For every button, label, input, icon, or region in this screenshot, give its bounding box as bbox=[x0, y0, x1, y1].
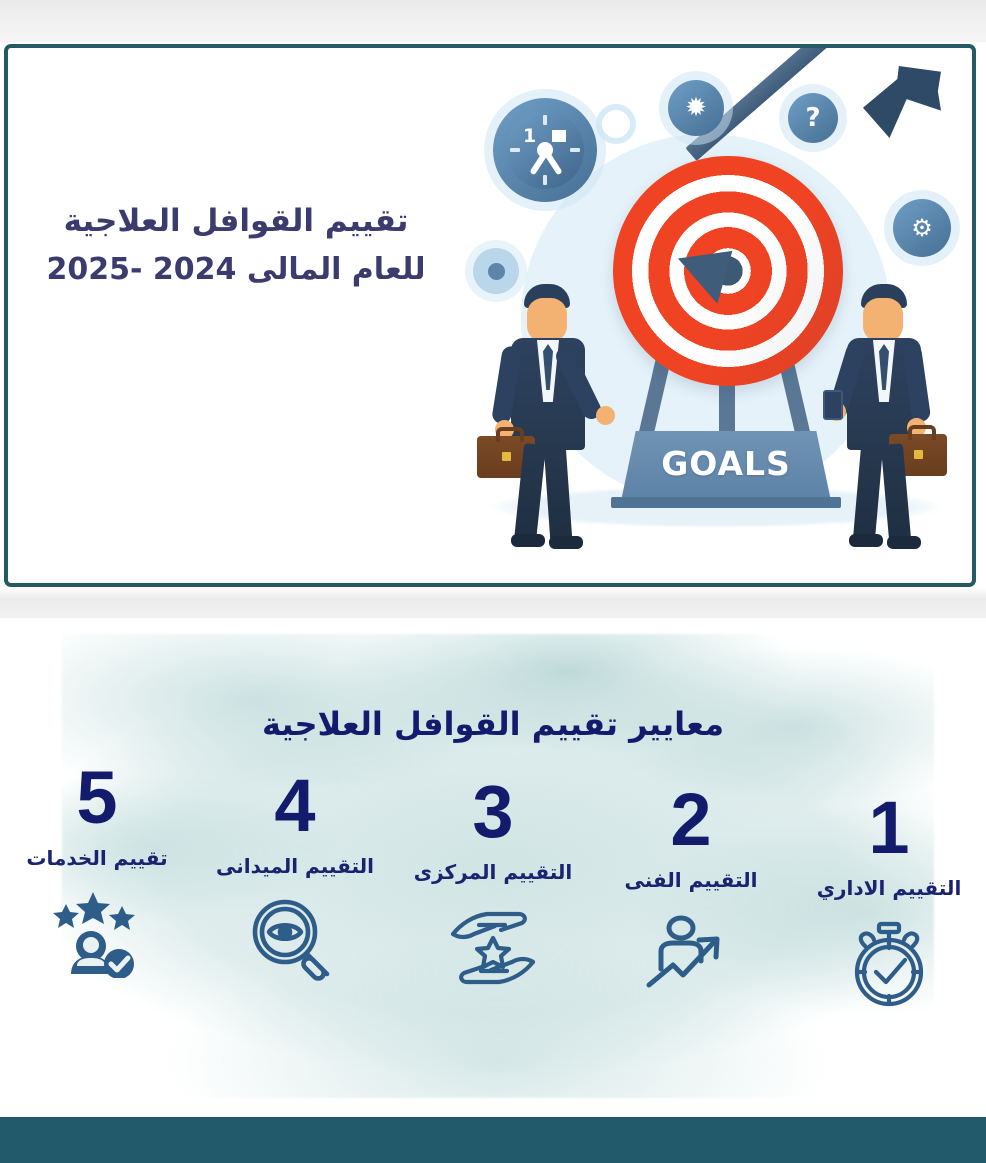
clock-square-marker bbox=[552, 130, 566, 142]
criterion-number-3: 3 bbox=[472, 778, 513, 846]
hands-star-icon bbox=[443, 902, 543, 994]
page-title-line-2: للعام المالى 2024 -2025 bbox=[36, 246, 436, 295]
criterion-label-5: تقييم الخدمات bbox=[26, 846, 167, 870]
stopwatch-check-icon bbox=[839, 918, 939, 1010]
magnifier-eye-icon bbox=[245, 896, 345, 988]
clock-tick-top bbox=[543, 115, 547, 125]
criterion-label-1: التقييم الاداري bbox=[817, 876, 962, 900]
bottom-teal-bar bbox=[0, 1117, 986, 1163]
businessman-right-shoe-front bbox=[849, 534, 883, 547]
criterion-number-4: 4 bbox=[274, 772, 315, 840]
criterion-item-2[interactable]: 2 التقييم الفنى bbox=[596, 786, 786, 1002]
criterion-label-4: التقييم الميدانى bbox=[216, 854, 374, 878]
slide-gutter-divider bbox=[0, 588, 986, 618]
goals-label: GOALS bbox=[621, 444, 831, 483]
goals-pedestal-base bbox=[611, 497, 841, 508]
criterion-number-5: 5 bbox=[76, 764, 117, 832]
businessman-right bbox=[823, 284, 953, 549]
slide-two: معايير تقييم القوافل العلاجية 1 التقييم … bbox=[0, 618, 986, 1117]
businessman-right-shoe-back bbox=[887, 536, 921, 549]
smartphone-icon bbox=[823, 390, 843, 420]
clock-badge-icon: 1 bbox=[493, 98, 597, 202]
criterion-item-3[interactable]: 3 التقييم المركزى bbox=[398, 778, 588, 994]
criterion-number-2: 2 bbox=[670, 786, 711, 854]
businessman-right-head bbox=[863, 298, 903, 342]
businessman-left-hand bbox=[596, 406, 615, 425]
criterion-number-1: 1 bbox=[868, 794, 909, 862]
businessman-left-shoe-front bbox=[511, 534, 545, 547]
clock-tick-right bbox=[570, 148, 580, 152]
businessman-left-shoe-back bbox=[549, 536, 583, 549]
circle-dot-badge-icon bbox=[473, 248, 519, 294]
slide-one: تقييم القوافل العلاجية للعام المالى 2024… bbox=[4, 44, 976, 587]
decorative-ring-icon bbox=[596, 104, 636, 144]
criterion-item-1[interactable]: 1 التقييم الاداري bbox=[794, 794, 984, 1010]
clock-tick-left bbox=[510, 148, 520, 152]
businessman-right-leg-front bbox=[853, 443, 883, 543]
user-stars-check-icon bbox=[47, 888, 147, 980]
clock-hub bbox=[537, 142, 553, 158]
person-growth-arrow-icon bbox=[641, 910, 741, 1002]
arrow-fletching bbox=[863, 66, 941, 138]
gears-badge-icon: ⚙ bbox=[893, 199, 951, 257]
businessman-left-head bbox=[527, 298, 567, 342]
businessman-left-leg-back bbox=[544, 443, 573, 542]
clock-number-label: 1 bbox=[523, 125, 536, 147]
section-title: معايير تقييم القوافل العلاجية bbox=[0, 705, 986, 743]
presentation-deck: تقييم القوافل العلاجية للعام المالى 2024… bbox=[0, 0, 986, 1163]
criterion-item-5[interactable]: 5 تقييم الخدمات bbox=[2, 764, 192, 980]
criterion-label-2: التقييم الفنى bbox=[624, 868, 757, 892]
slide-one-title-block: تقييم القوافل العلاجية للعام المالى 2024… bbox=[36, 196, 436, 295]
criteria-list: 1 التقييم الاداري bbox=[0, 776, 986, 992]
goals-target-illustration: 1 ✹ ? ⚙ bbox=[463, 56, 973, 586]
businessman-left bbox=[491, 284, 621, 549]
clock-tick-bottom bbox=[543, 175, 547, 185]
question-mark-badge-icon: ? bbox=[788, 93, 838, 143]
clock-face: 1 bbox=[506, 111, 584, 189]
star-badge-icon: ✹ bbox=[668, 80, 724, 136]
criterion-label-3: التقييم المركزى bbox=[414, 860, 573, 884]
page-title-line-1: تقييم القوافل العلاجية bbox=[36, 196, 436, 246]
top-gutter-strip bbox=[0, 0, 986, 43]
criterion-item-4[interactable]: 4 التقييم الميدانى bbox=[200, 772, 390, 988]
